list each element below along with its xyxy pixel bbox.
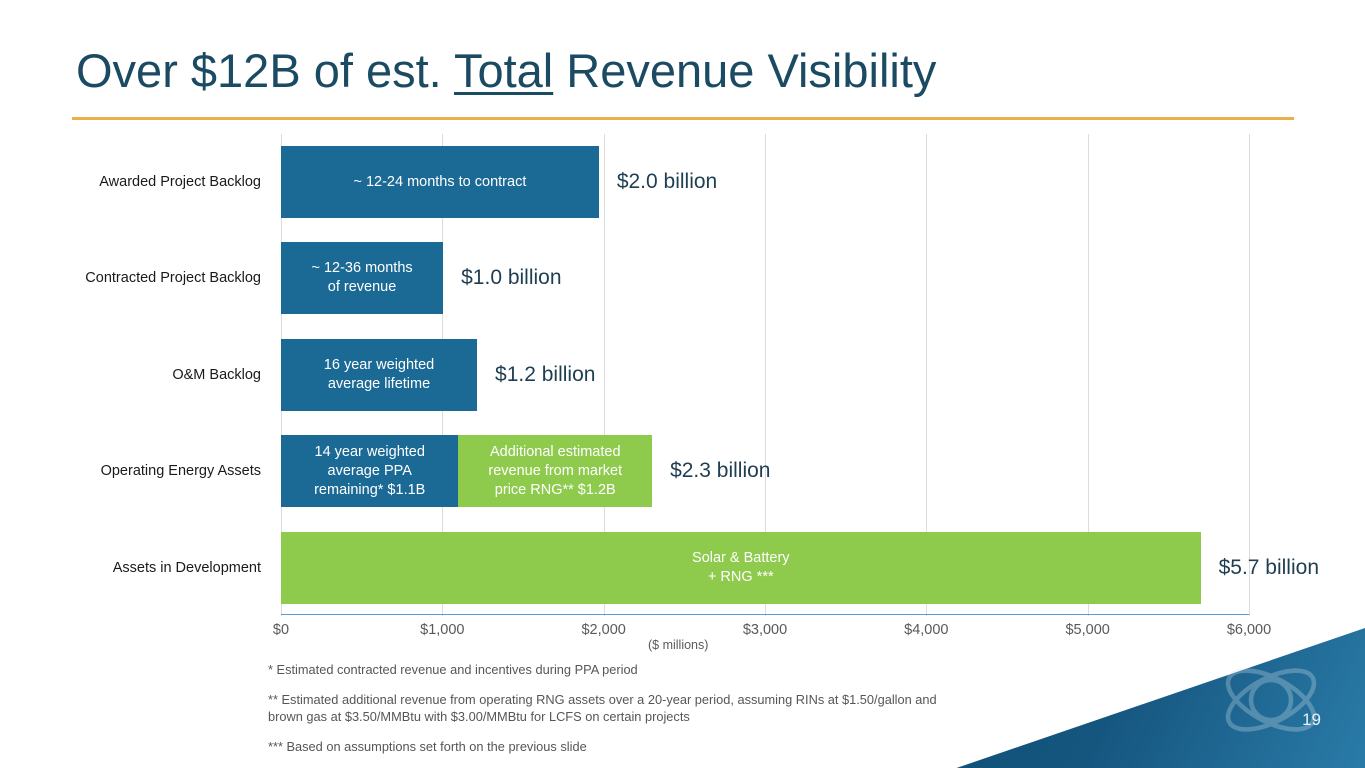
atom-logo-icon bbox=[1215, 650, 1327, 750]
revenue-visibility-bar-chart: Awarded Project Backlog~ 12-24 months to… bbox=[0, 134, 1365, 616]
bar-segment-blue[interactable]: 14 year weightedaverage PPAremaining* $1… bbox=[281, 435, 458, 507]
x-axis-unit-label: ($ millions) bbox=[648, 638, 708, 652]
category-label: O&M Backlog bbox=[0, 339, 261, 411]
x-tick-label: $1,000 bbox=[420, 622, 464, 638]
category-label: Assets in Development bbox=[0, 532, 261, 604]
bar-segment-blue[interactable]: ~ 12-36 monthsof revenue bbox=[281, 242, 443, 314]
bar-value-label: $1.0 billion bbox=[461, 242, 561, 314]
chart-x-axis-line bbox=[281, 614, 1249, 615]
bar-value-label: $2.3 billion bbox=[670, 435, 770, 507]
page-title: Over $12B of est. Total Revenue Visibili… bbox=[76, 40, 936, 102]
bar-value-label: $1.2 billion bbox=[495, 339, 595, 411]
x-tick-label: $2,000 bbox=[581, 622, 625, 638]
bar-segment-green[interactable]: Solar & Battery+ RNG *** bbox=[281, 532, 1201, 604]
x-tick-label: $6,000 bbox=[1227, 622, 1271, 638]
page-number: 19 bbox=[1302, 710, 1321, 730]
category-label: Contracted Project Backlog bbox=[0, 242, 261, 314]
x-tick-label: $3,000 bbox=[743, 622, 787, 638]
corner-decoration: 19 bbox=[935, 593, 1365, 768]
bar-1[interactable]: ~ 12-24 months to contract bbox=[281, 146, 599, 218]
x-tick-label: $0 bbox=[273, 622, 289, 638]
x-tick-label: $5,000 bbox=[1065, 622, 1109, 638]
x-tick-label: $4,000 bbox=[904, 622, 948, 638]
chart-row: Operating Energy Assets14 year weighteda… bbox=[0, 435, 1365, 507]
bar-3[interactable]: 16 year weightedaverage lifetime bbox=[281, 339, 477, 411]
footnote-2: ** Estimated additional revenue from ope… bbox=[268, 691, 968, 725]
page-title-part1: Over $12B of est. bbox=[76, 44, 454, 97]
bar-segment-blue[interactable]: 16 year weightedaverage lifetime bbox=[281, 339, 477, 411]
footnote-1: * Estimated contracted revenue and incen… bbox=[268, 661, 968, 678]
bar-5[interactable]: Solar & Battery+ RNG *** bbox=[281, 532, 1201, 604]
chart-row: Awarded Project Backlog~ 12-24 months to… bbox=[0, 146, 1365, 218]
category-label: Awarded Project Backlog bbox=[0, 146, 261, 218]
corner-wedge-shape bbox=[935, 593, 1365, 768]
page-title-part2: Revenue Visibility bbox=[553, 44, 936, 97]
page-title-emphasis: Total bbox=[454, 44, 553, 97]
chart-row: O&M Backlog16 year weightedaverage lifet… bbox=[0, 339, 1365, 411]
footnote-3: *** Based on assumptions set forth on th… bbox=[268, 738, 968, 755]
category-label: Operating Energy Assets bbox=[0, 435, 261, 507]
chart-row: Contracted Project Backlog~ 12-36 months… bbox=[0, 242, 1365, 314]
bar-value-label: $5.7 billion bbox=[1219, 532, 1319, 604]
bar-segment-green[interactable]: Additional estimatedrevenue from marketp… bbox=[458, 435, 652, 507]
bar-4[interactable]: 14 year weightedaverage PPAremaining* $1… bbox=[281, 435, 652, 507]
bar-2[interactable]: ~ 12-36 monthsof revenue bbox=[281, 242, 443, 314]
chart-row: Assets in DevelopmentSolar & Battery+ RN… bbox=[0, 532, 1365, 604]
bar-value-label: $2.0 billion bbox=[617, 146, 717, 218]
bar-segment-blue[interactable]: ~ 12-24 months to contract bbox=[281, 146, 599, 218]
title-divider-rule bbox=[72, 117, 1294, 120]
footnotes: * Estimated contracted revenue and incen… bbox=[268, 661, 968, 768]
